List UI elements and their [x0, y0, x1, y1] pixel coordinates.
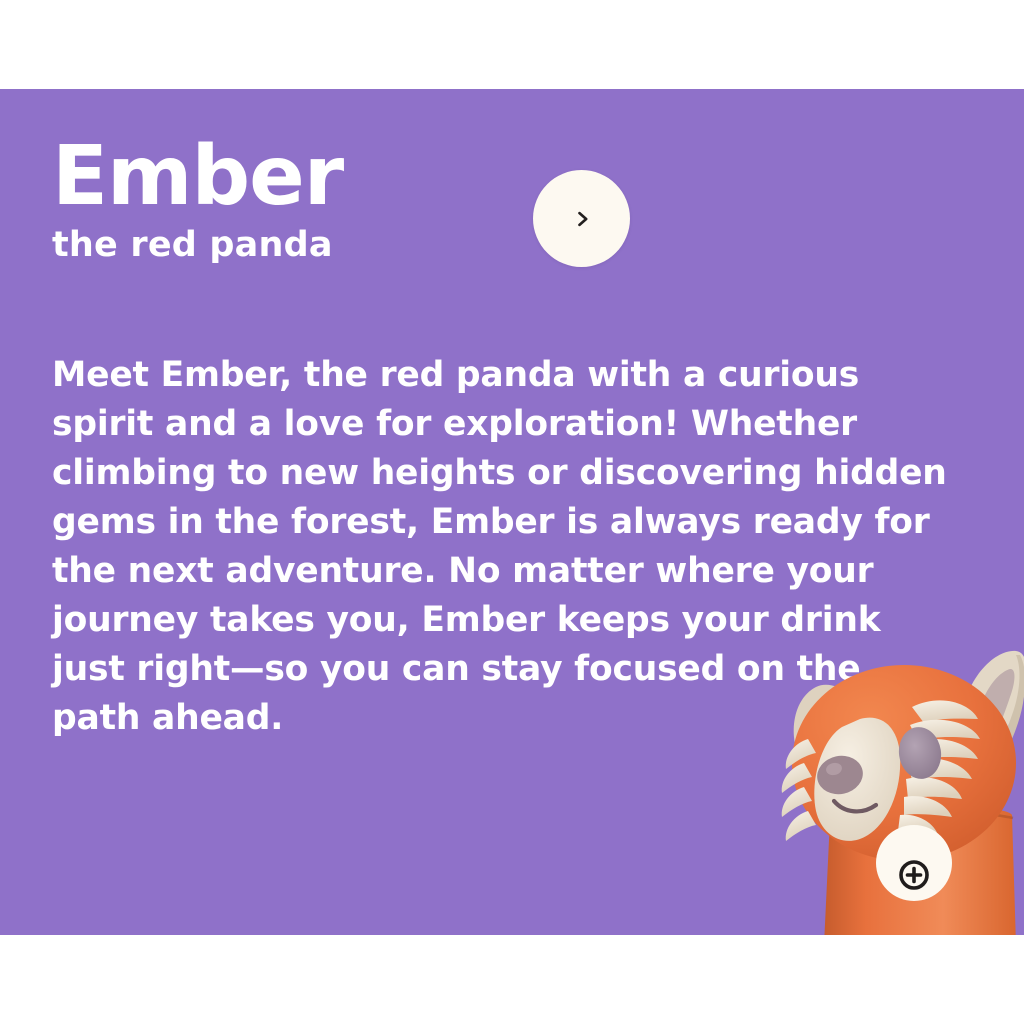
next-button[interactable]	[533, 170, 630, 267]
plus-circle-logo-icon	[901, 862, 927, 888]
page-subtitle: the red panda	[52, 227, 512, 264]
chevron-right-icon	[572, 209, 592, 229]
panda-smile	[834, 801, 876, 811]
bottle-body	[824, 806, 1016, 935]
hero-description: Meet Ember, the red panda with a curious…	[52, 351, 957, 743]
nose-highlight	[825, 761, 843, 776]
title-block: Ember the red panda	[52, 138, 512, 263]
left-ruff	[782, 739, 816, 841]
panda-nose	[814, 752, 867, 799]
right-ear-rim	[990, 655, 1024, 767]
page-root: Ember the red panda Meet Ember, the red …	[0, 0, 1024, 1024]
right-ear	[960, 651, 1024, 765]
hero-card: Ember the red panda Meet Ember, the red …	[0, 89, 1024, 935]
bottle-seam	[830, 812, 1013, 821]
badge-background	[876, 825, 952, 901]
page-title: Ember	[52, 138, 512, 217]
right-ear-inner	[974, 669, 1015, 755]
logo-badge	[876, 825, 952, 901]
